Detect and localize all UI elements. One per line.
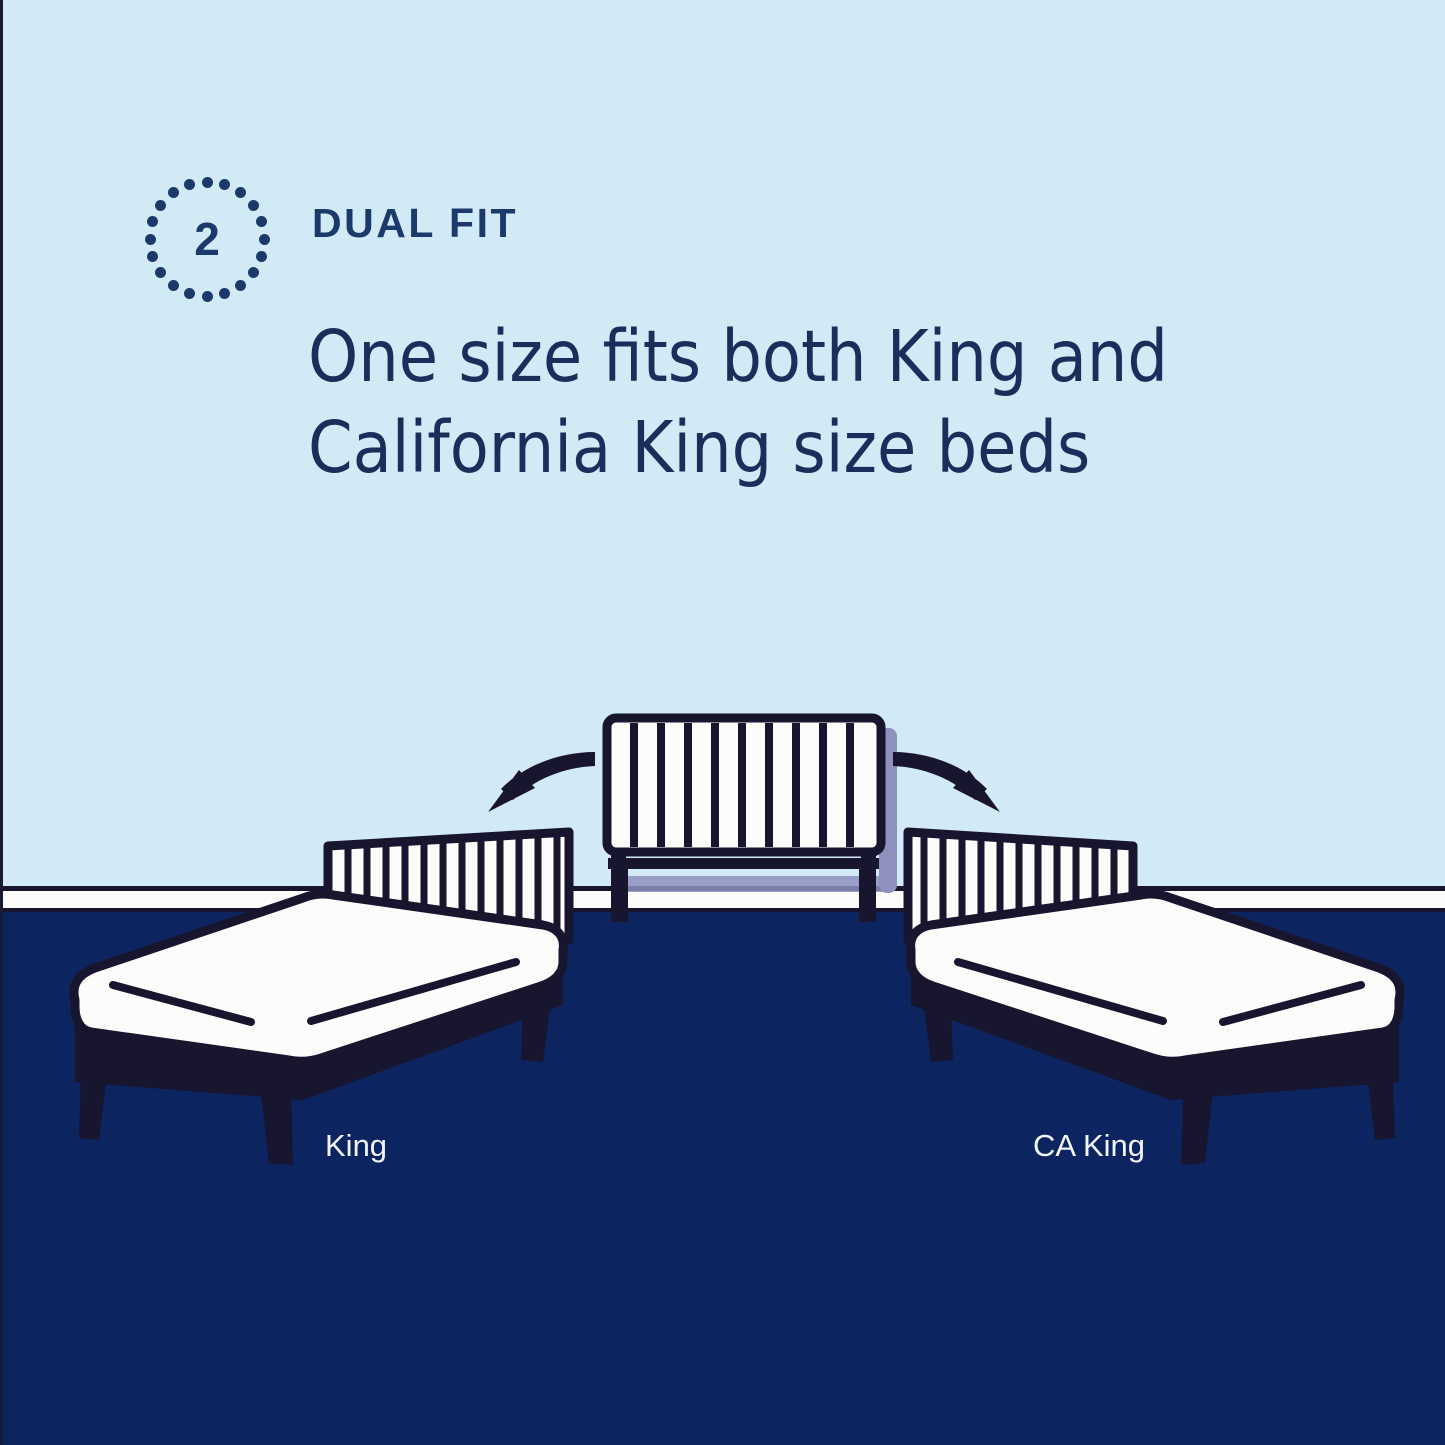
arrow-to-ca-king (893, 752, 1000, 812)
infographic-canvas: 2 DUAL FIT One size fits both King and C… (0, 0, 1445, 1445)
bed-illustration (3, 0, 1445, 1445)
bed-king (74, 832, 569, 1165)
bed-label-ca-king: CA King (1033, 1128, 1145, 1164)
bed-label-king: King (325, 1128, 387, 1164)
bed-ca-king (908, 832, 1400, 1165)
center-headboard (607, 718, 897, 922)
arrow-to-king (488, 752, 595, 812)
